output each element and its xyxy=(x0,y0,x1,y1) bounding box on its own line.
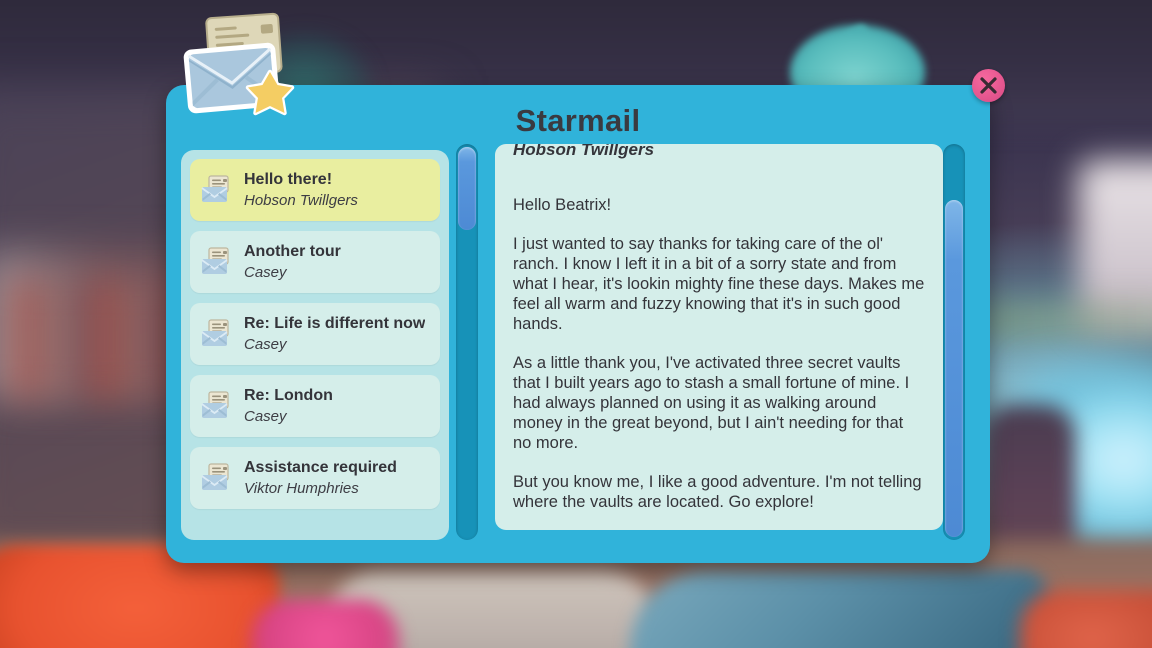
message-paragraph: Hello Beatrix! xyxy=(513,195,925,215)
mail-item-sender: Casey xyxy=(244,334,425,355)
mail-list-item[interactable]: Re: Life is different nowCasey xyxy=(190,303,440,365)
mail-item-sender: Casey xyxy=(244,262,341,283)
mail-item-sender: Casey xyxy=(244,406,333,427)
message-paragraph: But you know me, I like a good adventure… xyxy=(513,472,925,512)
mail-list-item[interactable]: Re: LondonCasey xyxy=(190,375,440,437)
envelope-icon xyxy=(200,389,234,423)
mail-item-subject: Hello there! xyxy=(244,169,358,190)
mail-item-subject: Another tour xyxy=(244,241,341,262)
message-sender: Hobson Twillgers xyxy=(513,144,925,162)
mail-item-subject: Re: Life is different now xyxy=(244,313,425,334)
mail-item-subject: Assistance required xyxy=(244,457,397,478)
envelope-icon xyxy=(200,317,234,351)
message-scrollbar[interactable] xyxy=(943,144,965,540)
mail-item-sender: Viktor Humphries xyxy=(244,478,397,499)
message-paragraph: As a little thank you, I've activated th… xyxy=(513,353,925,453)
mail-list-item[interactable]: Assistance requiredViktor Humphries xyxy=(190,447,440,509)
close-icon xyxy=(979,76,998,95)
envelope-icon xyxy=(200,461,234,495)
message-scrollbar-thumb[interactable] xyxy=(945,200,963,537)
envelope-icon xyxy=(200,173,234,207)
mail-list-item[interactable]: Another tourCasey xyxy=(190,231,440,293)
mail-list[interactable]: Hello there!Hobson Twillgers Another tou… xyxy=(181,150,449,540)
page-title: Starmail xyxy=(166,103,990,139)
mail-item-subject: Re: London xyxy=(244,385,333,406)
envelope-icon xyxy=(200,245,234,279)
starmail-dialog: Starmail Hello there!Hobson Twillgers An… xyxy=(166,85,990,563)
game-screen: Starmail Hello there!Hobson Twillgers An… xyxy=(0,0,1152,648)
mail-list-scrollbar[interactable] xyxy=(456,144,478,540)
message-reading-pane[interactable]: Hobson TwillgersHello Beatrix!I just wan… xyxy=(495,144,943,530)
mail-list-item[interactable]: Hello there!Hobson Twillgers xyxy=(190,159,440,221)
close-button[interactable] xyxy=(972,69,1005,102)
mail-list-scrollbar-thumb[interactable] xyxy=(458,147,476,230)
message-paragraph: I just wanted to say thanks for taking c… xyxy=(513,234,925,334)
mail-item-sender: Hobson Twillgers xyxy=(244,190,358,211)
